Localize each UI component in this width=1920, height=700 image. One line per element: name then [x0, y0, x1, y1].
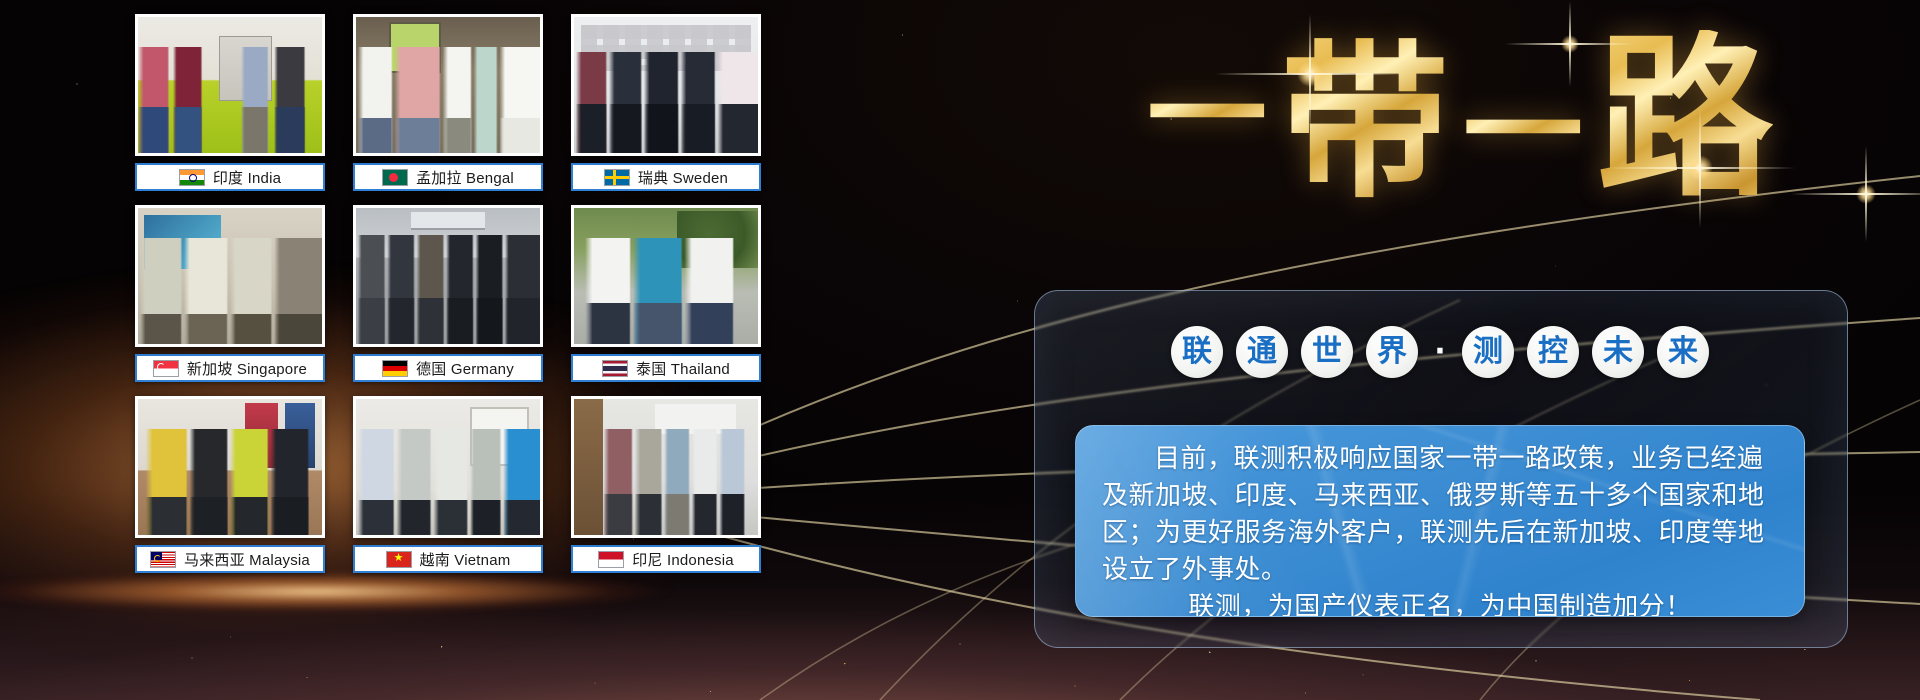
photo-thailand	[571, 205, 761, 347]
company-slogan: 联 通 世 界 · 测 控 未 来	[1034, 314, 1846, 390]
country-label-vietnam[interactable]: 越南 Vietnam	[353, 545, 543, 573]
country-label-text: 新加坡 Singapore	[187, 358, 307, 379]
india-flag-icon	[179, 169, 205, 186]
country-card-vietnam[interactable]: 越南 Vietnam	[353, 396, 543, 573]
country-card-indonesia[interactable]: 印尼 Indonesia	[571, 396, 761, 573]
country-card-singapore[interactable]: 新加坡 Singapore	[135, 205, 325, 382]
country-card-germany[interactable]: 德国 Germany	[353, 205, 543, 382]
country-label-text: 印尼 Indonesia	[632, 549, 734, 570]
country-card-malaysia[interactable]: 马来西亚 Malaysia	[135, 396, 325, 573]
malaysia-flag-icon	[150, 551, 176, 568]
title-char-1: 一	[1147, 56, 1267, 176]
belt-and-road-title: 一 带 一 路	[1010, 8, 1910, 223]
country-card-bengal[interactable]: 孟加拉 Bengal	[353, 14, 543, 191]
photo-bengal	[353, 14, 543, 156]
country-label-text: 印度 India	[213, 167, 281, 188]
country-label-sweden[interactable]: 瑞典 Sweden	[571, 163, 761, 191]
country-card-thailand[interactable]: 泰国 Thailand	[571, 205, 761, 382]
country-label-text: 孟加拉 Bengal	[416, 167, 514, 188]
country-label-india[interactable]: 印度 India	[135, 163, 325, 191]
country-label-indonesia[interactable]: 印尼 Indonesia	[571, 545, 761, 573]
slogan-char-4: 界	[1366, 326, 1418, 378]
title-char-3: 一	[1463, 72, 1583, 192]
slogan-char-8: 来	[1657, 326, 1709, 378]
slogan-char-3: 世	[1301, 326, 1353, 378]
country-label-malaysia[interactable]: 马来西亚 Malaysia	[135, 545, 325, 573]
vietnam-flag-icon	[386, 551, 412, 568]
germany-flag-icon	[382, 360, 408, 377]
country-label-text: 泰国 Thailand	[636, 358, 730, 379]
country-label-thailand[interactable]: 泰国 Thailand	[571, 354, 761, 382]
singapore-flag-icon	[153, 360, 179, 377]
indonesia-flag-icon	[598, 551, 624, 568]
slogan-char-5: 测	[1462, 326, 1514, 378]
slogan-char-6: 控	[1527, 326, 1579, 378]
country-card-sweden[interactable]: 瑞典 Sweden	[571, 14, 761, 191]
photo-sweden	[571, 14, 761, 156]
country-label-text: 马来西亚 Malaysia	[184, 549, 310, 570]
country-label-germany[interactable]: 德国 Germany	[353, 354, 543, 382]
country-label-text: 瑞典 Sweden	[638, 167, 728, 188]
description-textbox: 目前，联测积极响应国家一带一路政策，业务已经遍及新加坡、印度、马来西亚、俄罗斯等…	[1075, 425, 1805, 617]
country-label-text: 德国 Germany	[416, 358, 514, 379]
country-label-singapore[interactable]: 新加坡 Singapore	[135, 354, 325, 382]
description-paragraph-1: 目前，联测积极响应国家一带一路政策，业务已经遍及新加坡、印度、马来西亚、俄罗斯等…	[1102, 441, 1778, 589]
country-card-india[interactable]: 印度 India	[135, 14, 325, 191]
sweden-flag-icon	[604, 169, 630, 186]
banner-stage: 印度 India 孟加拉 Bengal	[0, 0, 1920, 700]
thailand-flag-icon	[602, 360, 628, 377]
country-label-text: 越南 Vietnam	[420, 549, 511, 570]
photo-germany	[353, 205, 543, 347]
slogan-separator-dot: ·	[1431, 343, 1449, 361]
photo-malaysia	[135, 396, 325, 538]
title-char-4: 路	[1597, 30, 1773, 206]
slogan-char-7: 未	[1592, 326, 1644, 378]
description-paragraph-2: 联测，为国产仪表正名，为中国制造加分！	[1102, 589, 1778, 617]
photo-india	[135, 14, 325, 156]
bangladesh-flag-icon	[382, 169, 408, 186]
photo-indonesia	[571, 396, 761, 538]
country-label-bengal[interactable]: 孟加拉 Bengal	[353, 163, 543, 191]
photo-singapore	[135, 205, 325, 347]
slogan-char-2: 通	[1236, 326, 1288, 378]
photo-vietnam	[353, 396, 543, 538]
country-photo-grid: 印度 India 孟加拉 Bengal	[135, 14, 761, 573]
title-char-2: 带	[1281, 38, 1449, 206]
slogan-char-1: 联	[1171, 326, 1223, 378]
